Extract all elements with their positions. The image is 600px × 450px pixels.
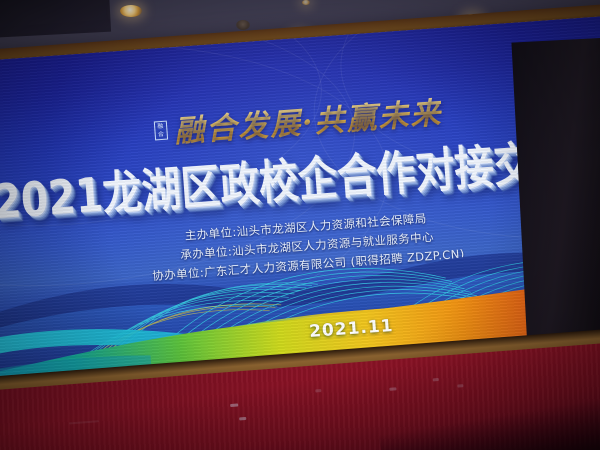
led-screen-surface: 融合 融合发展·共赢未来 2021龙湖区政校企合作对接交流会 主办单位:汕头市龙… — [0, 15, 600, 392]
seal-stamp-icon: 融合 — [154, 120, 168, 140]
conference-stage-photo: 融合 融合发展·共赢未来 2021龙湖区政校企合作对接交流会 主办单位:汕头市龙… — [0, 0, 600, 450]
ceiling-spotlight — [120, 5, 142, 17]
screen-content: 融合 融合发展·共赢未来 2021龙湖区政校企合作对接交流会 主办单位:汕头市龙… — [0, 15, 600, 392]
carpet-speck — [389, 387, 396, 391]
carpet-speck — [433, 378, 439, 381]
carpet-speck — [315, 389, 321, 392]
led-screen: 融合 融合发展·共赢未来 2021龙湖区政校企合作对接交流会 主办单位:汕头市龙… — [0, 15, 600, 392]
ceiling-fixture — [236, 20, 250, 30]
carpet-speck — [230, 403, 238, 407]
carpet-speck — [457, 384, 463, 387]
carpet-speck — [239, 417, 246, 421]
ceiling-spotlight — [302, 0, 310, 5]
